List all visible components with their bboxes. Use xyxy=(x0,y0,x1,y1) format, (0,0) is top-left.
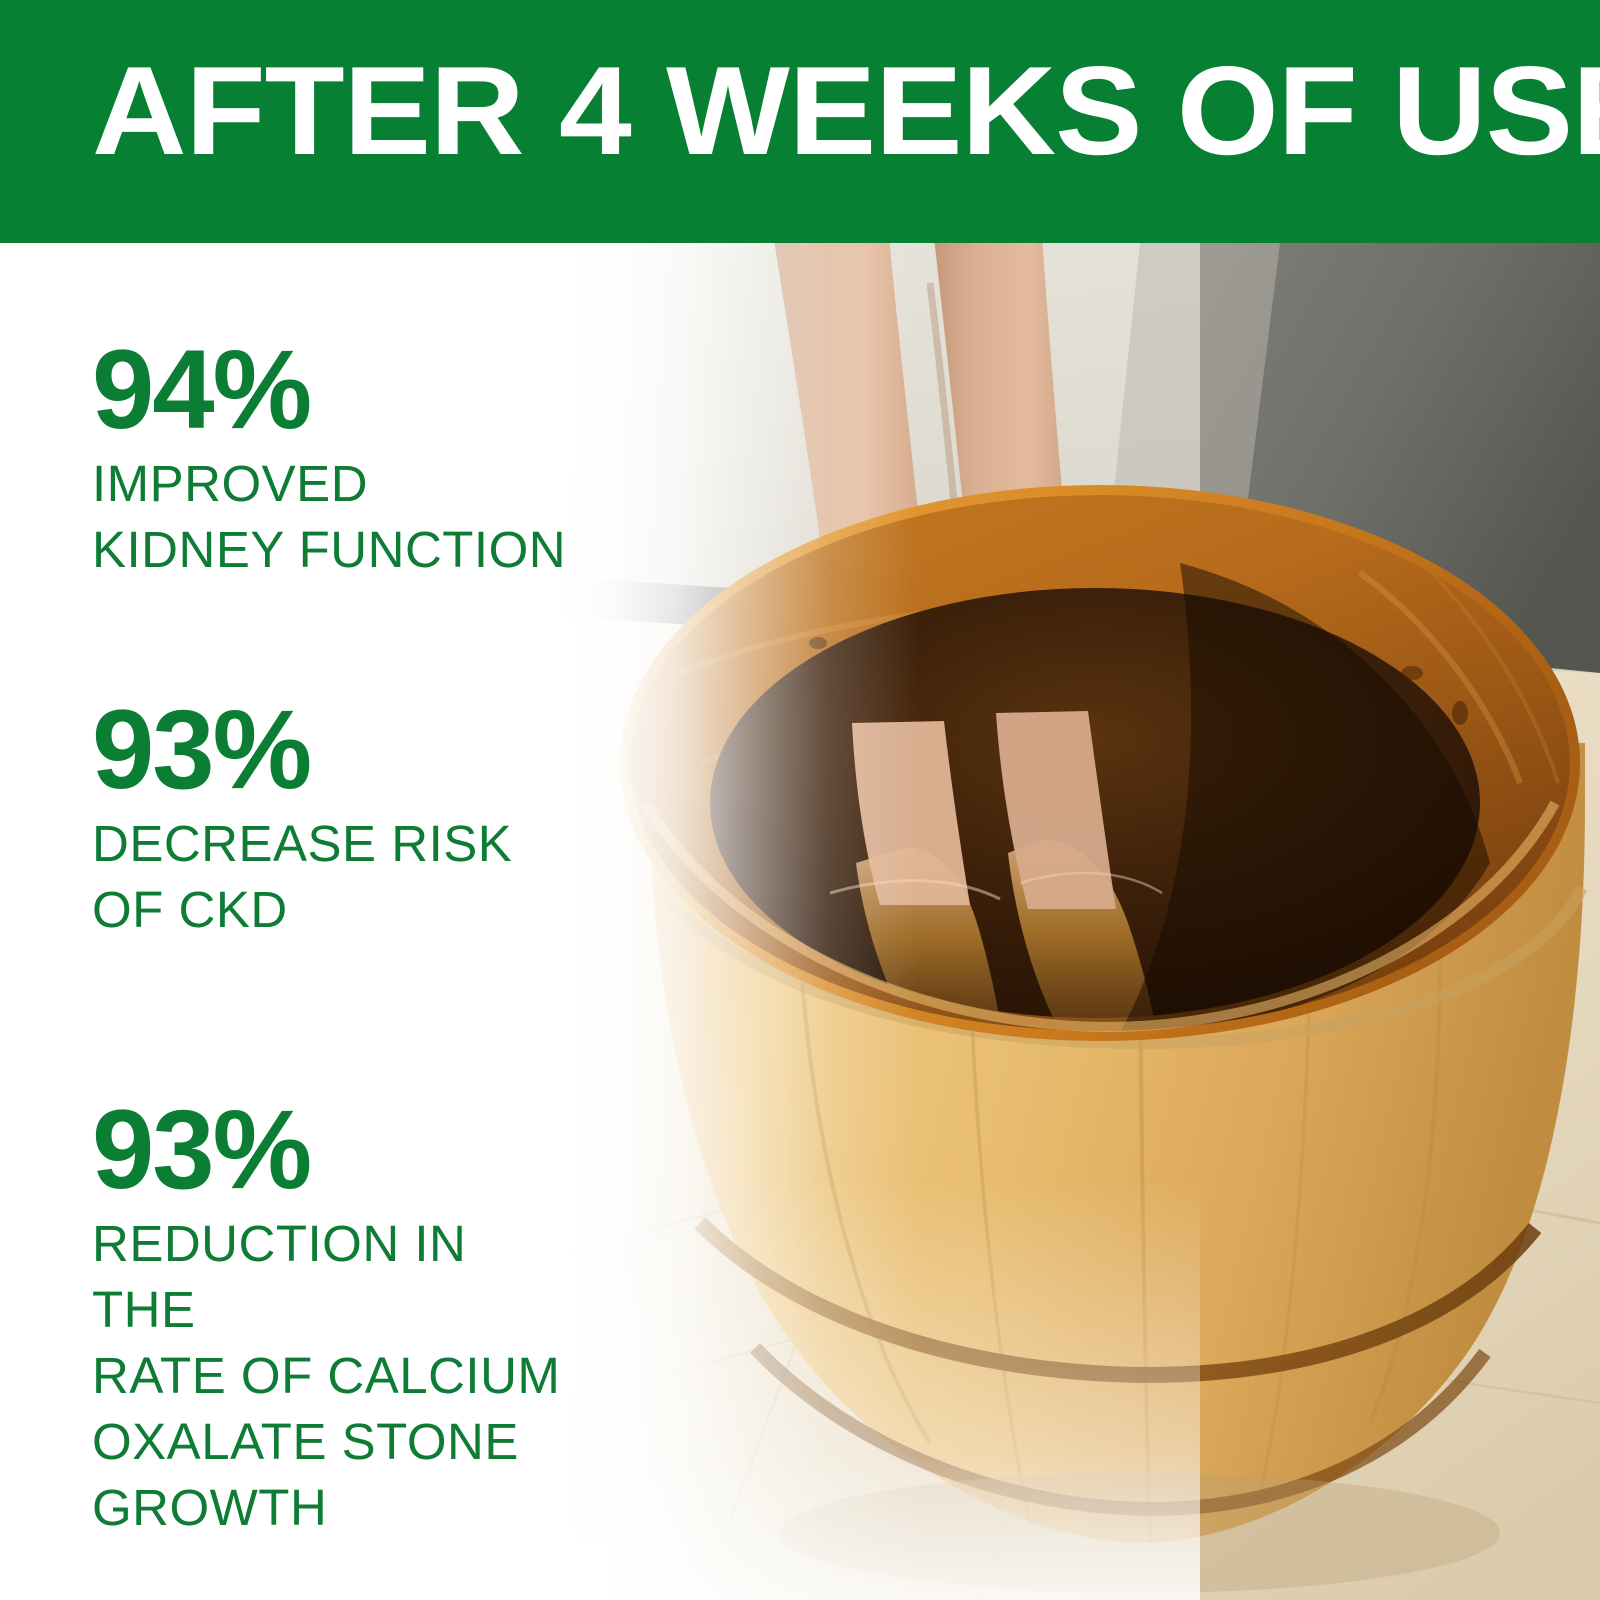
stat-block-stone-growth: 93% REDUCTION IN THERATE OF CALCIUMOXALA… xyxy=(92,1095,572,1541)
foot-bath-illustration xyxy=(500,243,1600,1600)
stat-label: IMPROVEDKIDNEY FUNCTION xyxy=(92,451,572,583)
stat-label: DECREASE RISKOF CKD xyxy=(92,811,572,943)
stats-column: 94% IMPROVEDKIDNEY FUNCTION 93% DECREASE… xyxy=(0,243,560,1600)
header-banner: AFTER 4 WEEKS OF USE xyxy=(0,0,1600,243)
stat-label: REDUCTION IN THERATE OF CALCIUMOXALATE S… xyxy=(92,1211,572,1541)
foot-bath-photo xyxy=(500,243,1600,1600)
stat-value: 94% xyxy=(92,335,572,445)
stat-block-kidney-function: 94% IMPROVEDKIDNEY FUNCTION xyxy=(92,335,572,583)
page-title: AFTER 4 WEEKS OF USE xyxy=(92,48,1579,174)
stat-value: 93% xyxy=(92,695,572,805)
stat-value: 93% xyxy=(92,1095,572,1205)
stat-block-ckd-risk: 93% DECREASE RISKOF CKD xyxy=(92,695,572,943)
infographic-page: AFTER 4 WEEKS OF USE 94% IMPROVEDKIDNEY … xyxy=(0,0,1600,1600)
basin-floor-shadow xyxy=(780,1473,1500,1593)
